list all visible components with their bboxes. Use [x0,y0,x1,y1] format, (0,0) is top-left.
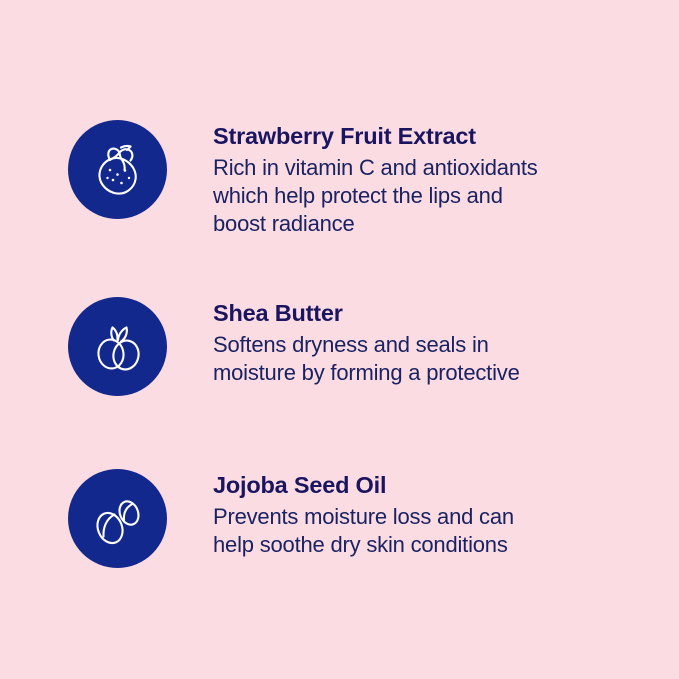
feature-list: Strawberry Fruit Extract Rich in vitamin… [68,120,628,579]
description-line: moisture by forming a protective [213,359,520,387]
feature-item-strawberry: Strawberry Fruit Extract Rich in vitamin… [68,120,628,297]
feature-title: Shea Butter [213,299,520,329]
feature-text-jojoba: Jojoba Seed Oil Prevents moisture loss a… [213,469,514,559]
feature-description: Softens dryness and seals in moisture by… [213,331,520,388]
feature-item-shea-butter: Shea Butter Softens dryness and seals in… [68,297,628,469]
shea-nut-icon-badge [68,297,167,396]
strawberry-icon-badge [68,120,167,219]
description-line: Softens dryness and seals in [213,331,520,359]
description-line: boost radiance [213,210,538,238]
feature-text-shea-butter: Shea Butter Softens dryness and seals in… [213,297,520,387]
feature-description: Prevents moisture loss and can help soot… [213,503,514,560]
description-line: Prevents moisture loss and can [213,503,514,531]
ingredient-benefits-panel: Strawberry Fruit Extract Rich in vitamin… [0,0,679,679]
shea-nut-icon [87,316,149,378]
jojoba-seed-icon-badge [68,469,167,568]
description-line: which help protect the lips and [213,182,538,210]
description-line: help soothe dry skin conditions [213,531,514,559]
strawberry-icon [87,139,149,201]
feature-text-strawberry: Strawberry Fruit Extract Rich in vitamin… [213,120,538,239]
jojoba-seed-icon [87,488,149,550]
feature-description: Rich in vitamin C and antioxidants which… [213,154,538,239]
description-line: Rich in vitamin C and antioxidants [213,154,538,182]
feature-title: Jojoba Seed Oil [213,471,514,501]
feature-title: Strawberry Fruit Extract [213,122,538,152]
feature-item-jojoba: Jojoba Seed Oil Prevents moisture loss a… [68,469,628,579]
